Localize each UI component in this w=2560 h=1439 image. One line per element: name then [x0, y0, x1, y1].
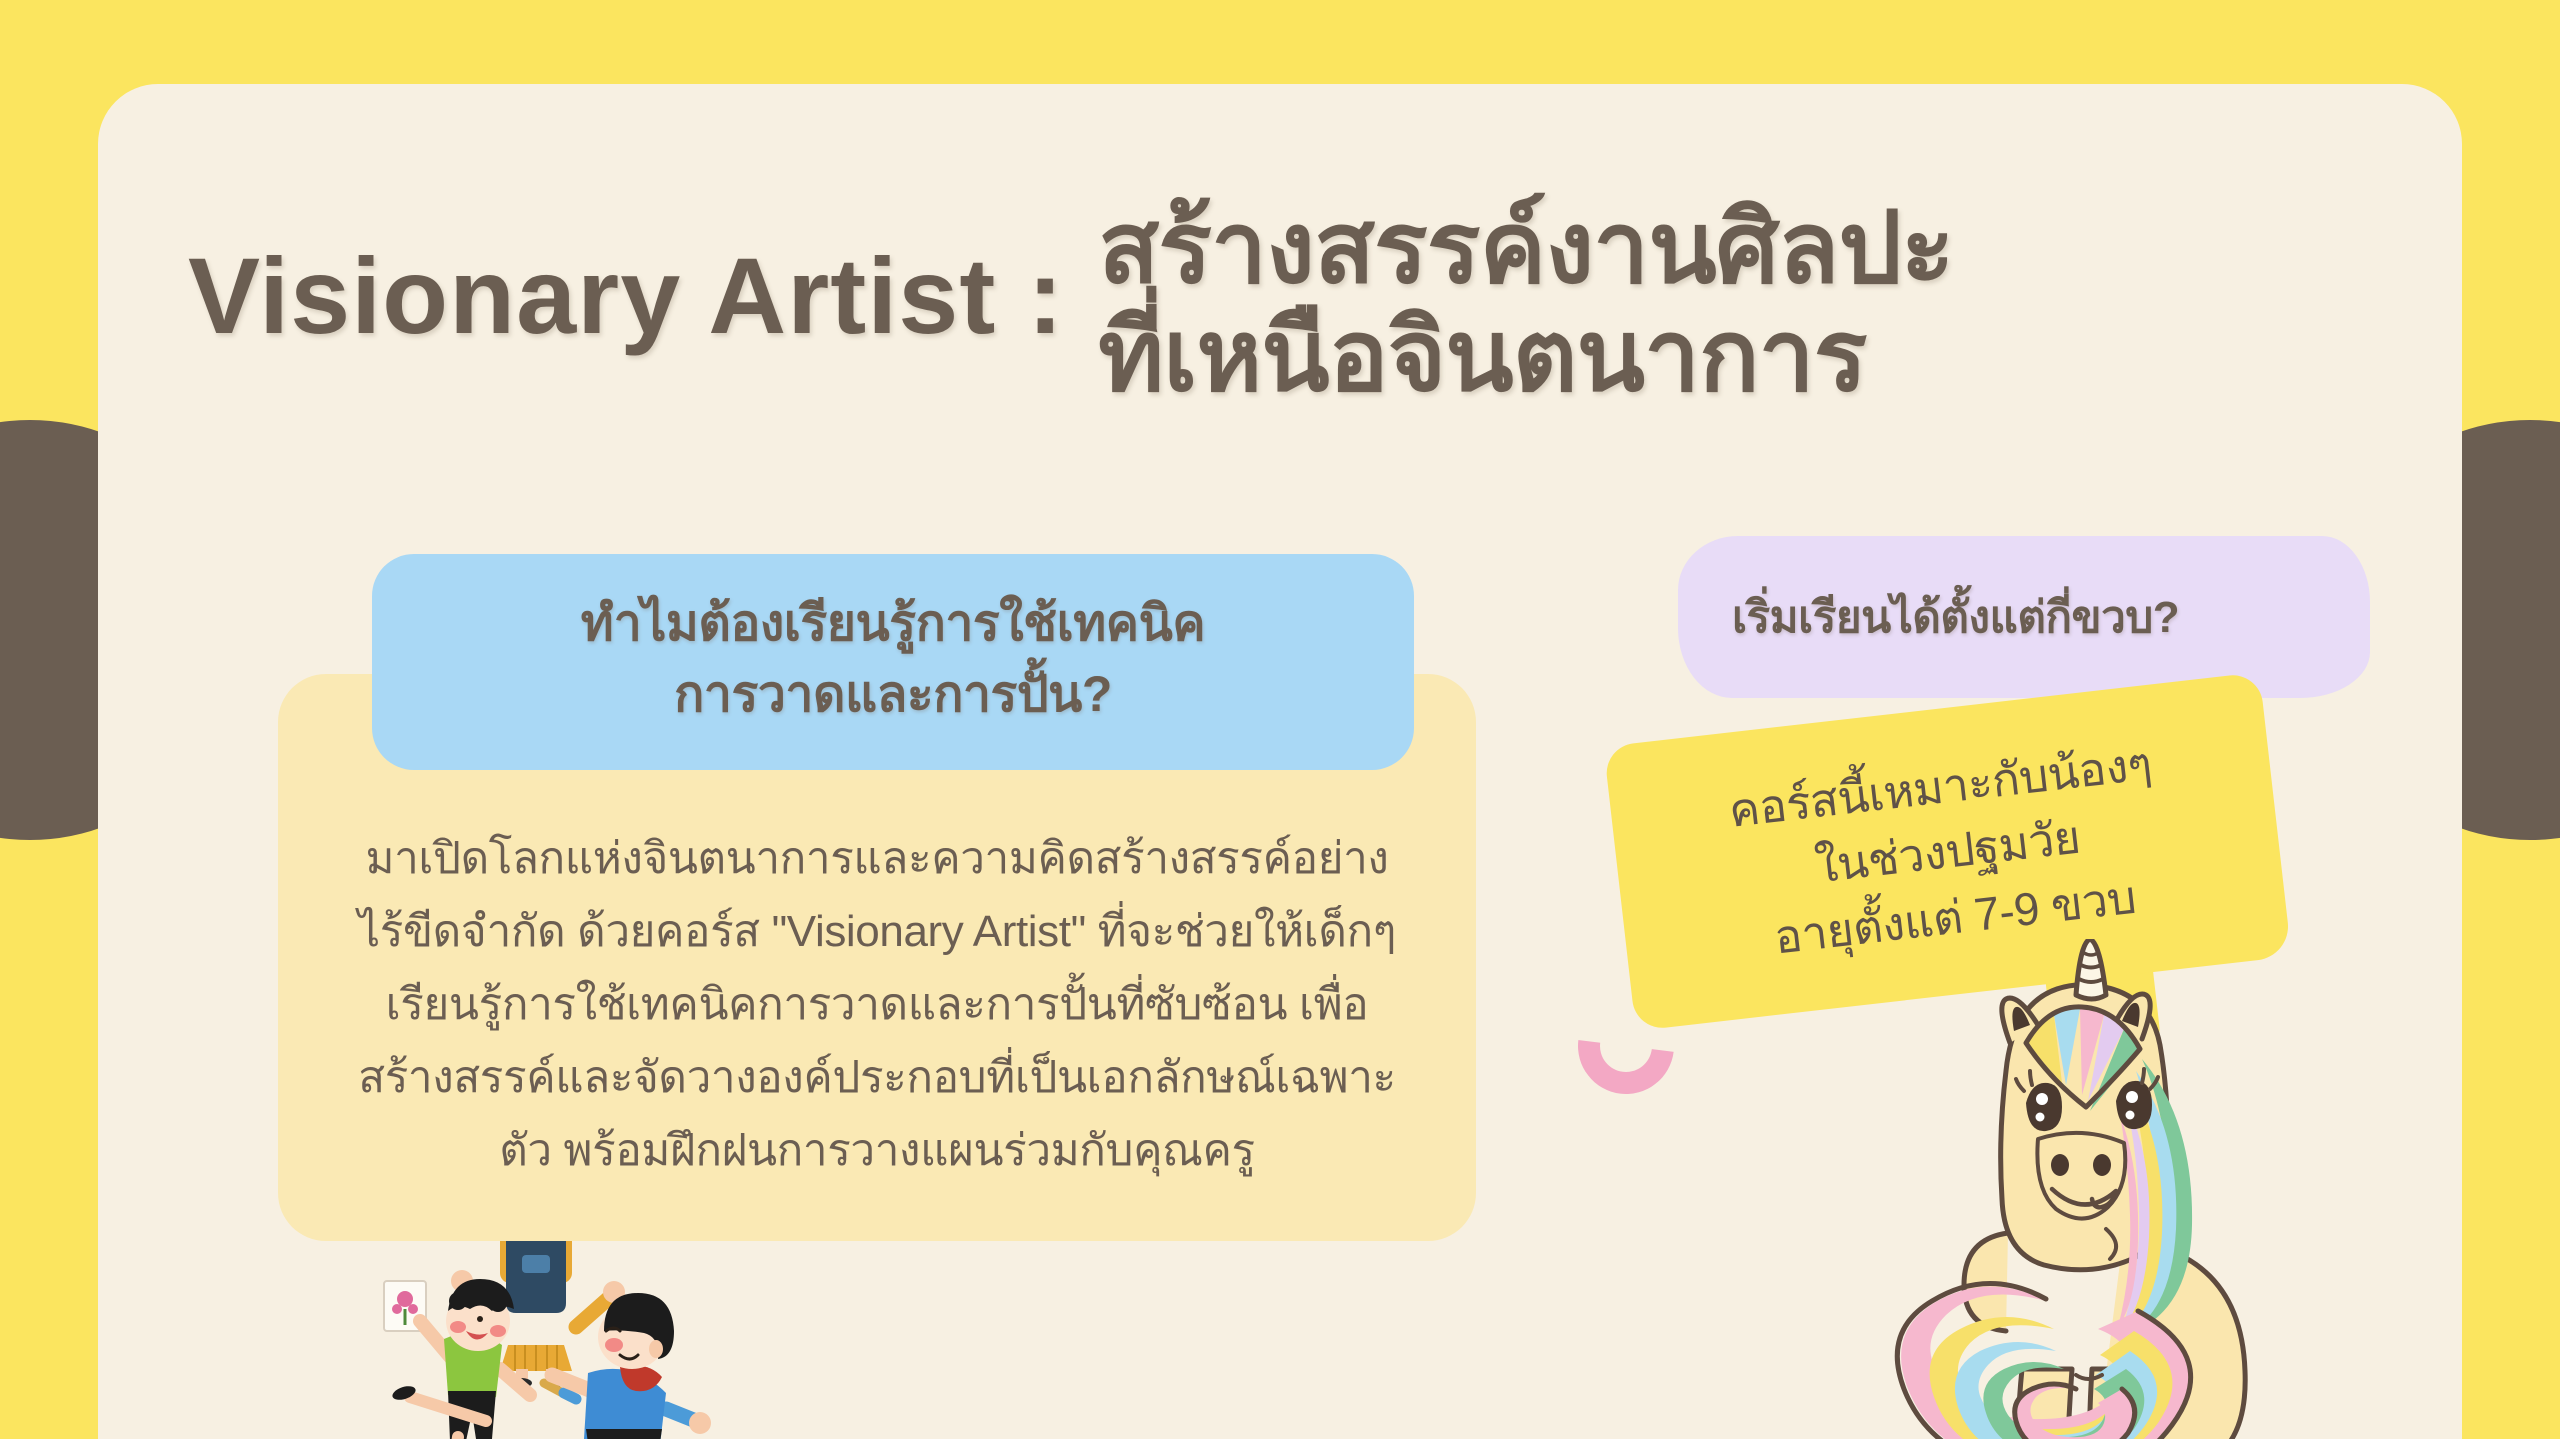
unicorn-mascot-illustration	[1880, 939, 2300, 1439]
why-learn-heading-line-1: ทำไมต้องเรียนรู้การใช้เทคนิค	[412, 588, 1374, 659]
why-learn-heading-pill: ทำไมต้องเรียนรู้การใช้เทคนิค การวาดและกา…	[372, 554, 1414, 770]
why-learn-heading-line-2: การวาดและการปั้น?	[412, 659, 1374, 730]
right-content-column: เริ่มเรียนได้ตั้งแต่กี่ขวบ? คอร์สนี้เหมา…	[1618, 536, 2462, 1002]
poster-title: Visionary Artist : สร้างสรรค์งานศิลปะ ที…	[188, 194, 2388, 410]
title-thai-line-2: ที่เหนือจินตนาการ	[1098, 302, 1953, 410]
age-question-heading-pill: เริ่มเรียนได้ตั้งแต่กี่ขวบ?	[1678, 536, 2370, 698]
title-thai: สร้างสรรค์งานศิลปะ ที่เหนือจินตนาการ	[1098, 194, 1953, 410]
title-english: Visionary Artist :	[188, 194, 1064, 357]
title-thai-line-1: สร้างสรรค์งานศิลปะ	[1098, 194, 1953, 302]
left-content-column: ทำไมต้องเรียนรู้การใช้เทคนิค การวาดและกา…	[278, 554, 1478, 1241]
poster-card: Visionary Artist : สร้างสรรค์งานศิลปะ ที…	[98, 84, 2462, 1439]
